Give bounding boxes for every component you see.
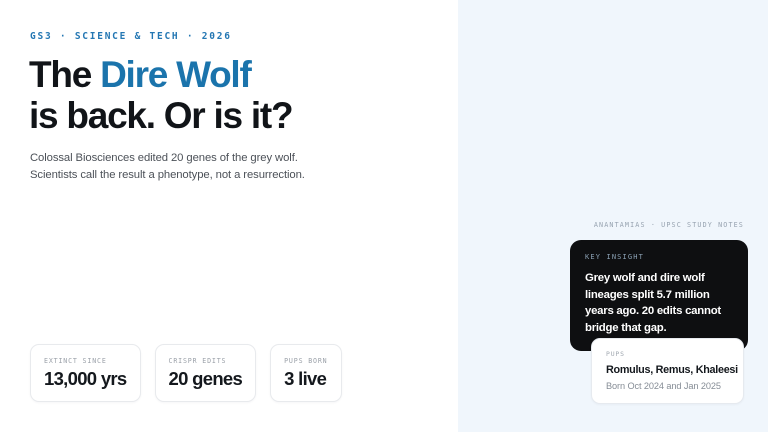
stat-value: 20 genes: [169, 370, 243, 389]
stat-value: 13,000 yrs: [44, 370, 127, 389]
key-insight-card: KEY INSIGHT Grey wolf and dire wolf line…: [570, 240, 748, 351]
headline-accent-dire-wolf: Dire Wolf: [100, 54, 250, 95]
key-insight-text: Grey wolf and dire wolf lineages split 5…: [585, 270, 733, 336]
stat-card-extinct-since: EXTINCT SINCE 13,000 yrs: [30, 344, 141, 402]
right-panel: ANANTAMIAS · UPSC STUDY NOTES KEY INSIGH…: [458, 0, 768, 432]
stat-card-group: EXTINCT SINCE 13,000 yrs CRISPR EDITS 20…: [30, 344, 342, 402]
slide-root: GS3 · SCIENCE & TECH · 2026 The Dire Wol…: [0, 0, 768, 432]
stat-label: PUPS BORN: [284, 357, 327, 365]
stat-label: EXTINCT SINCE: [44, 357, 127, 365]
pups-born-dates: Born Oct 2024 and Jan 2025: [606, 381, 729, 391]
lede-paragraph: Colossal Biosciences edited 20 genes of …: [30, 150, 320, 184]
pups-card: PUPS Romulus, Remus, Khaleesi Born Oct 2…: [591, 338, 744, 404]
stat-card-pups-born: PUPS BORN 3 live: [270, 344, 341, 402]
brand-attribution: ANANTAMIAS · UPSC STUDY NOTES: [594, 221, 744, 229]
key-insight-label: KEY INSIGHT: [585, 253, 733, 261]
left-panel: GS3 · SCIENCE & TECH · 2026 The Dire Wol…: [0, 0, 458, 432]
stat-value: 3 live: [284, 370, 327, 389]
headline-line2: is back. Or is it?: [29, 95, 292, 136]
eyebrow-kicker: GS3 · SCIENCE & TECH · 2026: [30, 31, 232, 42]
headline-line1-plain: The: [29, 54, 100, 95]
stat-label: CRISPR EDITS: [169, 357, 243, 365]
stat-card-crispr-edits: CRISPR EDITS 20 genes: [155, 344, 257, 402]
pups-names: Romulus, Remus, Khaleesi: [606, 364, 729, 376]
page-title: The Dire Wolf is back. Or is it?: [29, 54, 429, 137]
pups-label: PUPS: [606, 350, 729, 358]
